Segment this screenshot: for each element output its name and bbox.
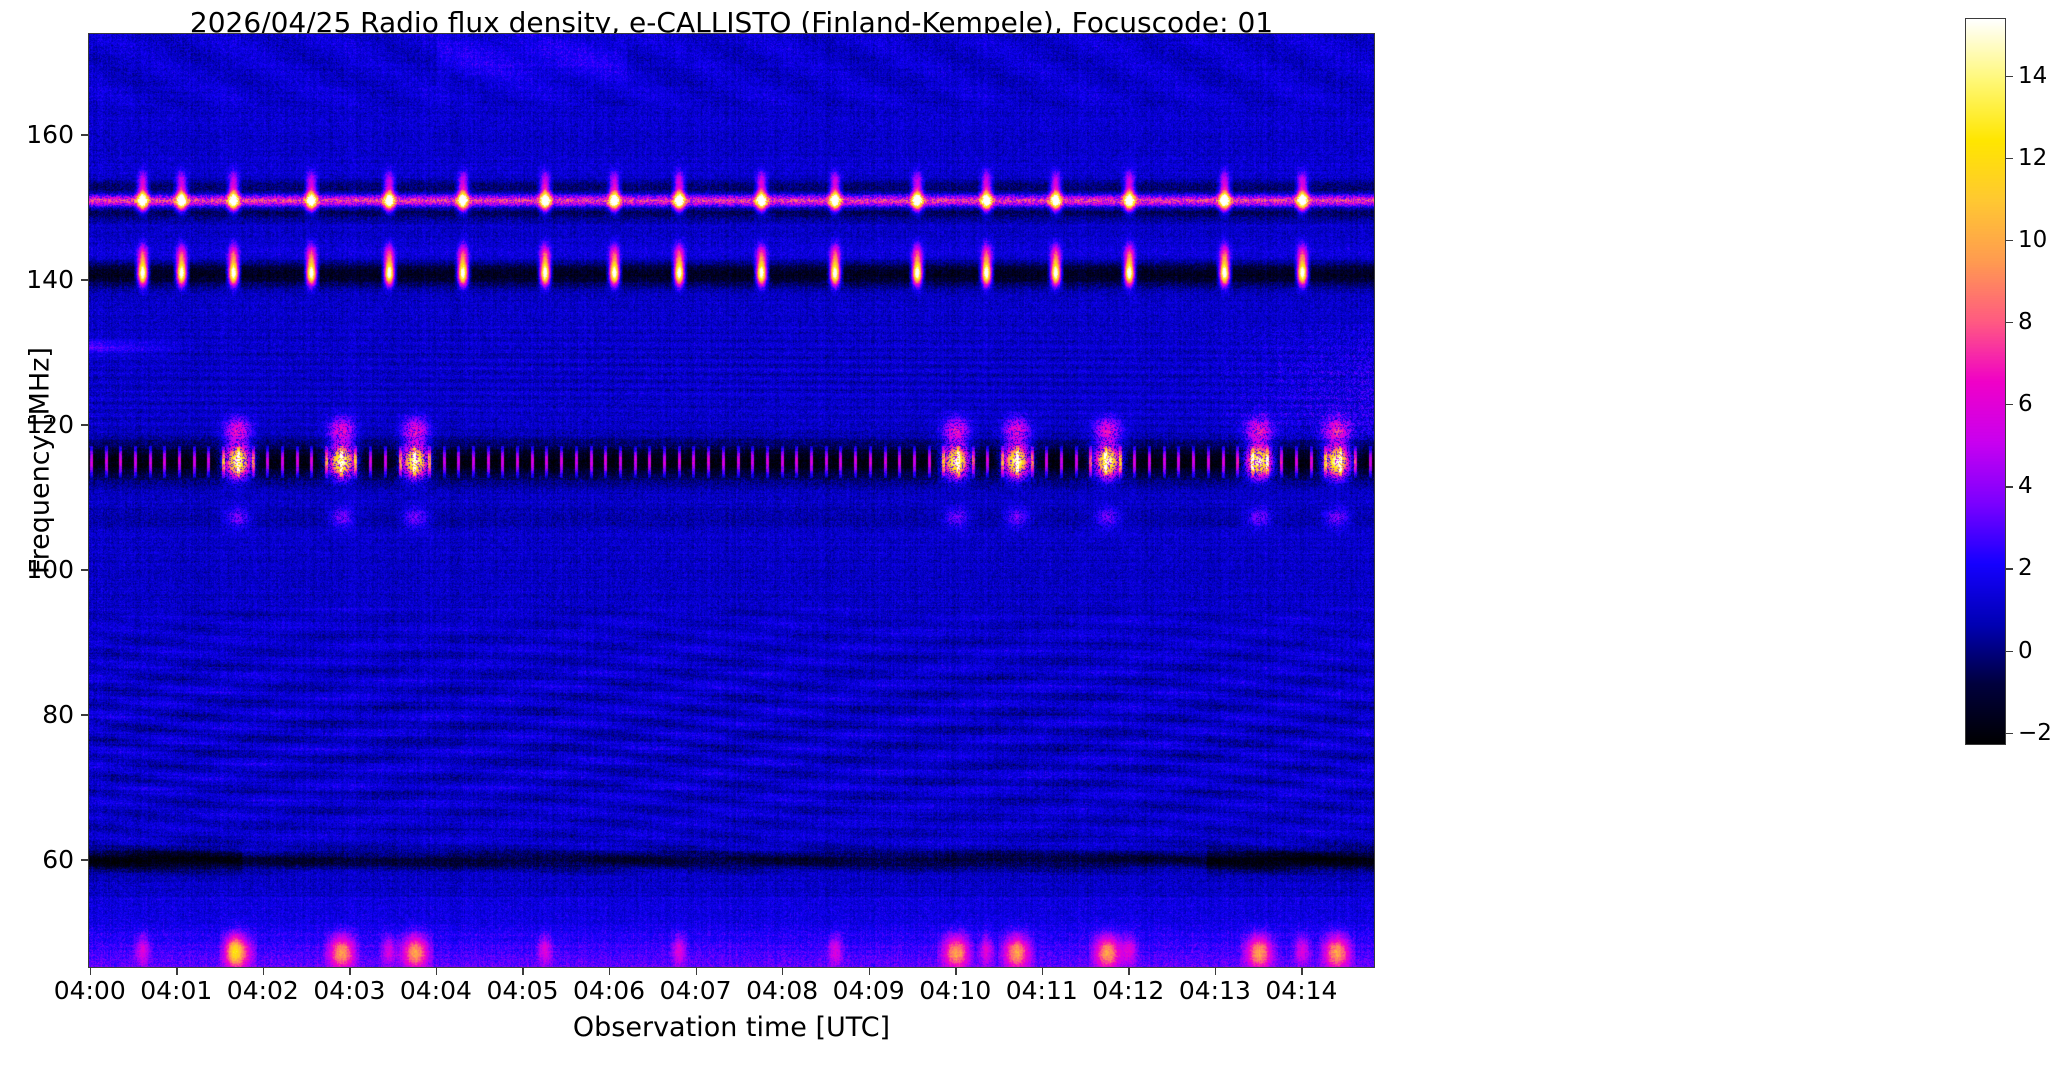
- y-tick-label: 80: [42, 702, 74, 727]
- colorbar-tick-mark: [2006, 158, 2013, 159]
- x-tick-mark: [955, 968, 956, 975]
- x-tick-mark: [263, 968, 264, 975]
- colorbar-gradient: [1966, 19, 2006, 745]
- y-tick-label: 100: [26, 557, 74, 582]
- x-tick-mark: [90, 968, 91, 975]
- colorbar-tick-label: 4: [2018, 475, 2033, 498]
- colorbar-tick-label: −2: [2018, 722, 2052, 745]
- colorbar-tick-mark: [2006, 568, 2013, 569]
- y-tick-mark: [81, 569, 88, 570]
- y-tick-label: 120: [26, 412, 74, 437]
- colorbar-tick-mark: [2006, 733, 2013, 734]
- y-tick-label: 160: [26, 122, 74, 147]
- spectrogram-plot-area: [88, 33, 1375, 968]
- y-tick-mark: [81, 714, 88, 715]
- x-tick-mark: [522, 968, 523, 975]
- y-tick-mark: [81, 424, 88, 425]
- spectrogram-image: [89, 34, 1375, 968]
- y-tick-label: 60: [42, 847, 74, 872]
- x-tick-mark: [436, 968, 437, 975]
- x-tick-mark: [1042, 968, 1043, 975]
- x-tick-label: 04:14: [1231, 978, 1371, 1003]
- x-tick-mark: [869, 968, 870, 975]
- x-axis-label: Observation time [UTC]: [88, 1012, 1375, 1043]
- colorbar-tick-label: 8: [2018, 311, 2033, 334]
- colorbar-tick-label: 12: [2018, 147, 2047, 170]
- colorbar-tick-mark: [2006, 651, 2013, 652]
- y-tick-mark: [81, 859, 88, 860]
- colorbar-tick-mark: [2006, 486, 2013, 487]
- x-tick-mark: [1215, 968, 1216, 975]
- x-tick-mark: [1301, 968, 1302, 975]
- colorbar-tick-label: 2: [2018, 557, 2033, 580]
- colorbar-tick-mark: [2006, 322, 2013, 323]
- colorbar: [1965, 18, 2006, 745]
- x-tick-mark: [609, 968, 610, 975]
- figure-root: 2026/04/25 Radio flux density, e-CALLIST…: [0, 0, 2066, 1067]
- colorbar-tick-mark: [2006, 240, 2013, 241]
- x-tick-mark: [176, 968, 177, 975]
- x-tick-mark: [782, 968, 783, 975]
- x-tick-mark: [1128, 968, 1129, 975]
- y-tick-mark: [81, 134, 88, 135]
- colorbar-tick-label: 10: [2018, 229, 2047, 252]
- y-tick-mark: [81, 279, 88, 280]
- colorbar-tick-mark: [2006, 76, 2013, 77]
- colorbar-tick-label: 6: [2018, 393, 2033, 416]
- colorbar-tick-mark: [2006, 404, 2013, 405]
- colorbar-tick-label: 14: [2018, 65, 2047, 88]
- y-tick-label: 140: [26, 267, 74, 292]
- x-tick-mark: [696, 968, 697, 975]
- x-tick-mark: [349, 968, 350, 975]
- colorbar-tick-label: 0: [2018, 640, 2033, 663]
